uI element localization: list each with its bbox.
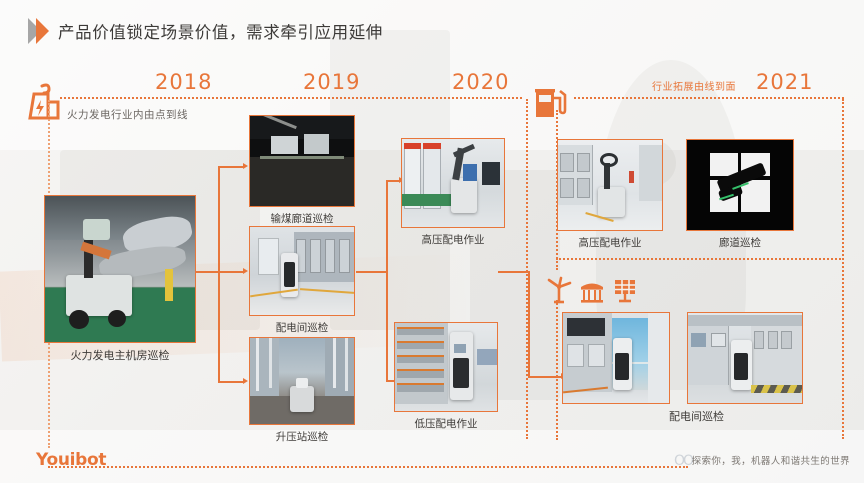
- robot-screen: [615, 353, 629, 380]
- photo-origin: [44, 195, 196, 343]
- photo-detail: [463, 164, 477, 182]
- connector: [498, 271, 528, 273]
- robot-arm: [453, 143, 476, 157]
- card-2021-bottom-1[interactable]: [562, 312, 670, 404]
- photo-detail: [250, 338, 279, 398]
- card-caption: 廊道巡检: [719, 235, 761, 250]
- slide-header: 产品价值锁定场景价值，需求牵引应用延伸: [28, 18, 383, 44]
- section-divider-2021-left: [526, 99, 528, 439]
- brand-tagline: 探索你，我，机器人和谐共生的世界: [692, 453, 850, 467]
- photo-detail: [260, 156, 343, 160]
- photo-substation: [249, 337, 355, 425]
- photo-detail: [639, 145, 662, 201]
- connector-arrow: [243, 378, 248, 384]
- photo-detail: [691, 333, 706, 347]
- robot-head: [83, 219, 110, 239]
- brand-logo: Youibot: [36, 450, 106, 470]
- photo-detail: [560, 178, 574, 198]
- card-2020-1[interactable]: 高压配电作业: [401, 138, 505, 228]
- photo-detail: [333, 338, 336, 388]
- photo-ship-doorway: [562, 312, 670, 404]
- hazard-stripe: [751, 385, 802, 393]
- robot-arm: [604, 163, 610, 188]
- photo-detail: [250, 116, 354, 139]
- photo-detail: [711, 333, 726, 347]
- card-caption: 配电间巡检: [669, 408, 724, 424]
- photo-detail: [165, 269, 173, 301]
- photo-detail: [688, 315, 802, 326]
- card-caption: 高压配电作业: [579, 235, 642, 250]
- phase-note-2018: 火力发电行业内由点到线: [67, 107, 188, 122]
- section-divider-2021-right: [842, 99, 844, 439]
- photo-detail: [397, 327, 444, 336]
- photo-detail: [404, 143, 421, 149]
- connector: [218, 166, 244, 168]
- photo-detail: [256, 338, 259, 391]
- card-caption: 高压配电作业: [422, 232, 485, 247]
- slide-canvas: 产品价值锁定场景价值，需求牵引应用延伸 2018 2019 2020 2021 …: [0, 0, 864, 483]
- photo-detail: [397, 341, 444, 350]
- photo-detail: [588, 344, 605, 367]
- connector: [386, 180, 400, 182]
- double-chevron-icon: [28, 18, 49, 44]
- photo-detail: [754, 331, 764, 349]
- card-2018-2[interactable]: 配电间巡检: [249, 226, 355, 316]
- robot-body: [598, 187, 625, 218]
- robot-screen: [453, 358, 469, 388]
- footer-rule: [48, 466, 688, 468]
- connector: [356, 271, 386, 273]
- connector: [218, 271, 244, 273]
- robot-screen: [284, 262, 294, 287]
- hydro-dam-icon: [578, 278, 606, 308]
- card-2018-3[interactable]: 升压站巡检: [249, 337, 355, 425]
- card-2018-1[interactable]: 输煤廊道巡检: [249, 115, 355, 207]
- robot-head: [600, 153, 619, 167]
- photo-detail: [339, 239, 349, 272]
- photo-corridor-night: [686, 139, 794, 231]
- solar-panel-icon: [611, 277, 639, 308]
- photo-detail: [258, 238, 279, 275]
- photo-detail: [345, 338, 348, 391]
- floor-line: [300, 288, 354, 294]
- connector: [528, 376, 562, 378]
- photo-switchgear-row: [687, 312, 803, 404]
- connector: [196, 271, 218, 273]
- photo-detail: [477, 349, 497, 365]
- photo-detail: [781, 331, 791, 349]
- timeline-rule-2021: [574, 97, 844, 99]
- power-plant-icon: [22, 80, 64, 126]
- photo-detail: [423, 143, 440, 149]
- section-divider-2021-inner-lower: [556, 300, 558, 440]
- robot-wheel: [69, 310, 89, 329]
- photo-detail: [567, 344, 584, 367]
- robot-panel: [454, 344, 466, 353]
- connector: [218, 166, 220, 381]
- section-rule-2021-mid: [556, 258, 844, 260]
- photo-hv-switchgear: [401, 138, 505, 228]
- card-caption: 配电间巡检: [276, 320, 329, 335]
- gas-pump-icon: [530, 82, 568, 124]
- connector-arrow: [243, 163, 248, 169]
- year-label-2018: 2018: [155, 70, 212, 94]
- photo-lv-switchgear: [394, 322, 498, 412]
- photo-detail: [577, 153, 591, 173]
- card-2021-top-1[interactable]: 高压配电作业: [557, 139, 663, 231]
- photo-detail: [629, 171, 634, 184]
- photo-coal-corridor: [249, 115, 355, 207]
- robot-head: [296, 378, 308, 388]
- photo-detail: [271, 136, 298, 154]
- robot-body: [290, 386, 315, 412]
- infinity-mark: OO: [674, 453, 692, 469]
- card-2020-2[interactable]: 低压配电作业: [394, 322, 498, 412]
- photo-detail: [577, 178, 591, 198]
- connector: [528, 271, 530, 376]
- photo-hv-corridor: [557, 139, 663, 231]
- connector-arrow: [243, 268, 248, 274]
- photo-detail: [269, 338, 272, 388]
- photo-detail: [402, 194, 451, 206]
- robot-body: [451, 178, 478, 213]
- year-label-2020: 2020: [452, 70, 509, 94]
- photo-detail: [397, 369, 444, 378]
- photo-detail: [560, 153, 574, 173]
- photo-detail: [567, 318, 605, 336]
- year-label-2019: 2019: [303, 70, 360, 94]
- photo-detail: [648, 313, 669, 403]
- photo-detail: [482, 162, 500, 185]
- photo-detail: [325, 239, 335, 272]
- photo-switchroom: [249, 226, 355, 316]
- timeline-rule-left: [60, 97, 522, 99]
- card-caption: 升压站巡检: [276, 429, 329, 444]
- card-caption: 低压配电作业: [415, 416, 478, 431]
- card-caption: 输煤廊道巡检: [271, 211, 334, 226]
- card-caption: 火力发电主机房巡检: [71, 347, 170, 363]
- connector: [386, 180, 388, 380]
- photo-detail: [304, 134, 329, 154]
- robot-screen: [734, 353, 749, 380]
- photo-detail: [250, 157, 354, 206]
- card-2021-bottom-2[interactable]: 配电间巡检: [687, 312, 803, 404]
- year-label-2021: 2021: [756, 70, 813, 94]
- photo-detail: [325, 338, 354, 398]
- wind-turbine-icon: [545, 276, 573, 308]
- photo-detail: [310, 239, 320, 272]
- photo-detail: [397, 383, 444, 392]
- page-title: 产品价值锁定场景价值，需求牵引应用延伸: [58, 19, 383, 43]
- card-origin[interactable]: 火力发电主机房巡检: [44, 195, 196, 343]
- phase-note-2021: 行业拓展由线到面: [652, 78, 736, 93]
- connector: [218, 381, 244, 383]
- photo-detail: [397, 355, 444, 364]
- photo-detail: [768, 331, 778, 349]
- card-2021-top-2[interactable]: 廊道巡检: [686, 139, 794, 231]
